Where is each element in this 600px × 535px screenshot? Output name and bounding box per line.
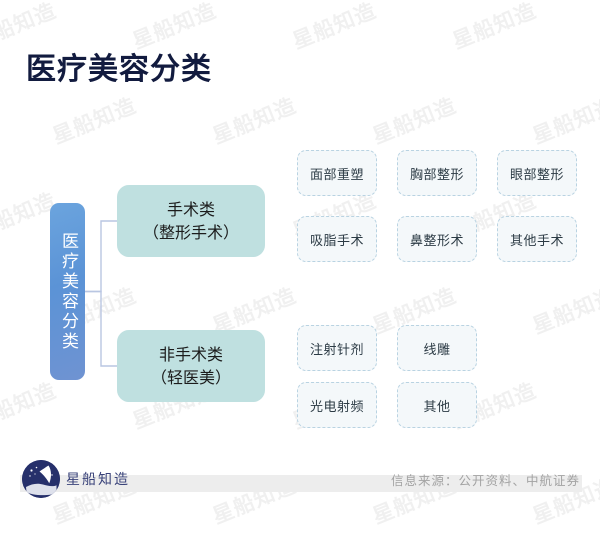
watermark-text: 星船知造 <box>368 90 461 151</box>
watermark-text: 星船知造 <box>0 375 60 436</box>
category-node-surgical[interactable]: 手术类 （整形手术） <box>117 185 265 257</box>
category-node-nonsurgical[interactable]: 非手术类 （轻医美） <box>117 330 265 402</box>
source-note: 信息来源：公开资料、中航证券 <box>391 470 580 489</box>
watermark-text: 星船知造 <box>208 90 301 151</box>
diagram-page: 星船知造星船知造星船知造星船知造星船知造星船知造星船知造星船知造星船知造星船知造… <box>0 0 600 535</box>
footer: 星船知造 信息来源：公开资料、中航证券 <box>0 460 600 505</box>
leaf-item-nonsurgical-3[interactable]: 其他 <box>397 382 477 428</box>
watermark-text: 星船知造 <box>288 0 381 55</box>
leaf-item-nonsurgical-1[interactable]: 线雕 <box>397 325 477 371</box>
leaf-item-surgical-3[interactable]: 吸脂手术 <box>297 216 377 262</box>
watermark-text: 星船知造 <box>448 0 541 55</box>
brand: 星船知造 <box>22 460 130 498</box>
brand-logo-icon <box>22 460 60 498</box>
root-node-medical-aesthetics[interactable]: 医疗美容分类 <box>50 203 85 380</box>
leaf-item-surgical-2[interactable]: 眼部整形 <box>497 150 577 196</box>
leaf-item-surgical-0[interactable]: 面部重塑 <box>297 150 377 196</box>
watermark-text: 星船知造 <box>528 280 600 341</box>
root-node-label: 医疗美容分类 <box>59 232 76 352</box>
category-node-nonsurgical-line1: 非手术类 <box>159 343 223 366</box>
brand-name: 星船知造 <box>66 469 130 489</box>
category-node-surgical-line2: （整形手术） <box>143 221 239 244</box>
leaf-item-nonsurgical-2[interactable]: 光电射频 <box>297 382 377 428</box>
category-node-surgical-line1: 手术类 <box>167 198 215 221</box>
leaf-item-surgical-4[interactable]: 鼻整形术 <box>397 216 477 262</box>
ship-star-icon <box>22 460 60 498</box>
watermark-text: 星船知造 <box>48 90 141 151</box>
watermark-text: 星船知造 <box>528 90 600 151</box>
category-node-nonsurgical-line2: （轻医美） <box>151 366 231 389</box>
leaf-item-surgical-1[interactable]: 胸部整形 <box>397 150 477 196</box>
leaf-item-nonsurgical-0[interactable]: 注射针剂 <box>297 325 377 371</box>
page-title: 医疗美容分类 <box>26 44 212 88</box>
leaf-item-surgical-5[interactable]: 其他手术 <box>497 216 577 262</box>
